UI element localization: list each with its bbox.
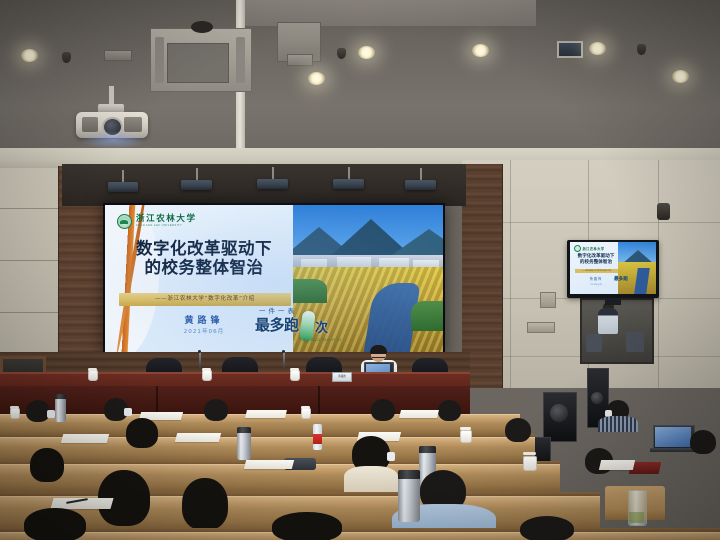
stage-cup-lid-1 [88,368,97,371]
ac-grille [167,43,229,83]
doorway-chair-2 [626,332,644,352]
monitor-photo [618,242,656,294]
cup-lid-c1 [523,452,536,455]
badge-suffix-text: 次 [315,317,328,336]
glasses-icon [372,353,385,358]
audience-head-a5 [438,400,461,421]
hanging-light-1 [108,182,138,192]
badge-main-text: 最多跑 [255,314,299,335]
ceiling-downlight-3 [472,44,489,57]
monitor-speaker: 黄路锋 [573,276,619,281]
monitor-stand [605,298,621,305]
ceiling-speaker-1 [62,52,71,63]
handout-a2 [245,410,287,418]
monitor-badge: 最多跑 [614,276,628,282]
audience-hair-e2 [272,512,342,540]
audience-head-laptop-user [690,430,716,454]
audience-desk-face-row-c [0,474,560,492]
monitor-university-name: 浙江农林大学 [583,246,605,251]
hanging-light-4 [333,179,364,189]
cup-b1 [460,430,472,443]
ac-cassette-unit [150,28,252,92]
microphone-head-2 [282,350,285,353]
cup-lid-a1 [10,406,19,409]
audience-shoulders-b3 [598,416,638,432]
face-mask-a1 [47,410,55,418]
slide-title: 数字化改革驱动下 的校务整体智治 [115,239,293,278]
university-name-cn: 浙江农林大学 [136,215,197,224]
ceiling [0,0,720,172]
hanging-light-2 [181,180,212,190]
wall-outlet-plate[interactable] [527,322,555,333]
presenter-nameplate: 黄路锋 [332,372,352,382]
badge-pinyin: ZUI DUO PAO YI CI [303,338,342,342]
cup-a1 [10,408,20,419]
projector-light-glow [80,131,146,149]
ceiling-vent-small [287,54,313,66]
monitor-logo: 浙江农林大学 [574,245,605,252]
bottle-label-b1 [313,434,322,444]
doorway-person [598,308,618,334]
monitor-subtitle-band: ——浙江农林大学“数字化改革”介绍 [575,269,618,273]
ceiling-downlight-1 [21,49,38,62]
cup-a2 [301,408,311,419]
slide-campaign-badge: 一件一表 最多跑 次 ZUI DUO PAO YI CI [255,305,351,347]
thermos-lid-a1 [55,394,66,399]
hanging-light-3 [257,179,288,189]
photo-green-bank-2 [411,301,443,331]
ceiling-downlight-5 [672,70,689,83]
thermos-a1 [55,398,66,422]
cup-c1 [523,456,537,471]
audience-hair-e1 [24,508,86,540]
audience-head-a4 [371,399,395,421]
slide-title-line-1: 数字化改革驱动下 [115,239,293,258]
handout-b1 [61,434,110,443]
photo-green-bank-1 [293,279,327,303]
cup-lid-a2 [301,406,310,409]
university-name-en: ZHEJIANG A&F UNIVERSITY [136,225,197,228]
monitor-title-line-2: 的校务整体智治 [573,260,619,266]
stage-cup-2 [202,370,212,381]
ceiling-downlight-2 [358,46,375,59]
thermos-lid-c1 [419,446,436,453]
audience-desk-row-e [0,532,720,540]
badge-checkmark-one-icon [299,310,316,341]
monitor-emblem-icon [574,245,581,252]
ceiling-control-panel[interactable] [557,41,583,58]
photo-mountain-right [389,229,443,257]
handout-a3 [399,410,439,418]
stage-microphone-1 [199,352,201,368]
cup-lid-b1 [460,427,471,430]
presenter-nameplate-text: 黄路锋 [333,373,351,381]
presentation-slide[interactable]: 浙江农林大学 ZHEJIANG A&F UNIVERSITY 数字化改革驱动下 … [105,205,443,355]
slide-university-logo: 浙江农林大学 ZHEJIANG A&F UNIVERSITY [117,214,197,229]
stage-cup-1 [88,370,98,381]
ceiling-speaker-3 [637,44,646,55]
handout-c1 [244,460,294,469]
tea-leaves-d1 [629,512,644,523]
ceiling-speaker-2 [337,48,346,59]
audience-head-b2 [505,418,531,442]
hanging-light-5 [405,180,436,190]
stage-microphone-2 [283,352,285,368]
pa-speaker-cone-2 [591,392,603,404]
ceiling-downlight-6 [308,72,325,85]
thermos-lid-b1 [237,427,251,433]
thermos-b1 [237,432,251,460]
ceiling-downlight-4 [589,42,606,55]
thermos-lid-d1 [398,470,420,479]
university-emblem-icon [117,214,132,229]
face-mask-c2 [387,452,395,461]
thermos-d1 [398,478,420,522]
wall-left-panel [0,168,62,380]
ceiling-vent-left [104,50,132,61]
doorway-chair-1 [586,334,602,352]
audience-laptop-base [650,448,696,452]
monitor-date: 2021年06月 [573,282,619,286]
microphone-head-1 [198,350,201,353]
handout-b2 [175,433,221,442]
audience-head-a3 [204,399,228,421]
lecture-hall-photo: 浙江农林大学 ZHEJIANG A&F UNIVERSITY 数字化改革驱动下 … [0,0,720,540]
audience-hair-d2 [182,478,228,530]
monitor-title: 数字化改革驱动下 的校务整体智治 [573,254,619,265]
audience-head-e3 [520,516,574,540]
stage-cup-lid-2 [202,368,211,371]
audience-hair-b1 [126,418,158,448]
audience-hair-c1 [30,448,64,482]
face-mask-a2 [124,408,132,416]
audience-shoulders-c2 [344,466,398,492]
monitor-title-line-1: 数字化改革驱动下 [573,254,619,260]
audience-laptop-screen [655,427,691,447]
stage-cup-3 [290,370,300,381]
wall-control-plate[interactable] [540,292,556,308]
slide-title-line-2: 的校务整体智治 [115,258,293,277]
stage-desk-seam-2 [318,386,320,416]
stage-cup-lid-3 [290,368,299,371]
wall-monitor-screen[interactable]: 浙江农林大学 数字化改革驱动下 的校务整体智治 ——浙江农林大学“数字化改革”介… [570,242,656,294]
handout-c2 [599,460,635,470]
wall-speaker-icon [657,203,670,220]
pa-speaker-cone-1 [550,404,568,422]
monitor-subtitle-text: ——浙江农林大学“数字化改革”介绍 [575,269,618,273]
